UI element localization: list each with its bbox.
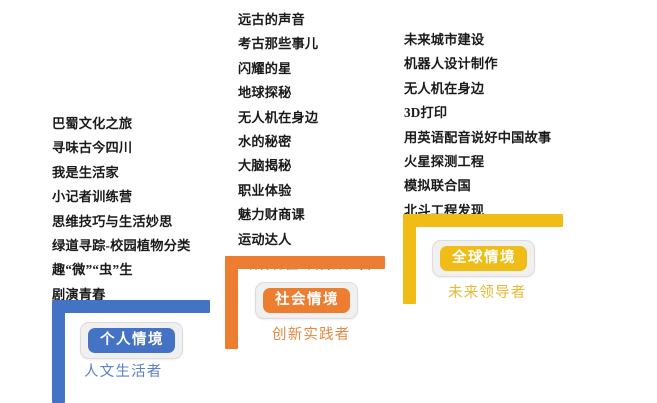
course-item: 趣“微”“虫”生 (52, 258, 190, 282)
course-item: 巴蜀文化之旅 (52, 112, 190, 136)
course-item: 大脑揭秘 (238, 154, 372, 178)
course-item: 魅力财商课 (238, 203, 372, 227)
badge-personal-label: 个人情境 (88, 328, 175, 353)
course-item: 职业体验 (238, 179, 372, 203)
bracket-horizontal-arm (225, 256, 385, 269)
caption-global: 未来领导者 (448, 283, 527, 303)
bracket-horizontal-arm (52, 300, 210, 313)
course-item: 绿道寻踪-校园植物分类 (52, 234, 190, 258)
course-item: 小记者训练营 (52, 185, 190, 209)
badge-social: 社会情境 (255, 282, 358, 319)
badge-global-label: 全球情境 (440, 246, 527, 271)
course-item: 远古的声音 (238, 8, 372, 32)
course-item: 3D打印 (404, 101, 551, 125)
course-item: 水的秘密 (238, 130, 372, 154)
badge-personal: 个人情境 (80, 322, 183, 359)
course-item: 模拟联合国 (404, 174, 551, 198)
course-list-global: 未来城市建设 机器人设计制作 无人机在身边 3D打印 用英语配音说好中国故事 火… (404, 28, 551, 223)
course-list-personal: 巴蜀文化之旅 寻味古今四川 我是生活家 小记者训练营 思维技巧与生活妙思 绿道寻… (52, 112, 190, 307)
course-item: 闪耀的星 (238, 57, 372, 81)
course-item: 机器人设计制作 (404, 52, 551, 76)
diagram-canvas: 巴蜀文化之旅 寻味古今四川 我是生活家 小记者训练营 思维技巧与生活妙思 绿道寻… (0, 0, 657, 403)
bracket-vertical-arm (52, 300, 65, 403)
course-item: 用英语配音说好中国故事 (404, 126, 551, 150)
bracket-vertical-arm (225, 256, 238, 349)
course-item: 无人机在身边 (238, 106, 372, 130)
course-list-social: 远古的声音 考古那些事儿 闪耀的星 地球探秘 无人机在身边 水的秘密 大脑揭秘 … (238, 8, 372, 276)
caption-social: 创新实践者 (272, 325, 351, 345)
course-item: 思维技巧与生活妙思 (52, 210, 190, 234)
bracket-horizontal-arm (403, 214, 563, 227)
caption-personal: 人文生活者 (84, 362, 163, 382)
course-item: 火星探测工程 (404, 150, 551, 174)
badge-global: 全球情境 (432, 240, 535, 277)
course-item: 我是生活家 (52, 161, 190, 185)
badge-social-label: 社会情境 (263, 288, 350, 313)
course-item: 未来城市建设 (404, 28, 551, 52)
course-item: 无人机在身边 (404, 77, 551, 101)
course-item: 运动达人 (238, 228, 372, 252)
bracket-vertical-arm (403, 214, 416, 304)
course-item: 地球探秘 (238, 81, 372, 105)
course-item: 考古那些事儿 (238, 32, 372, 56)
course-item: 寻味古今四川 (52, 136, 190, 160)
